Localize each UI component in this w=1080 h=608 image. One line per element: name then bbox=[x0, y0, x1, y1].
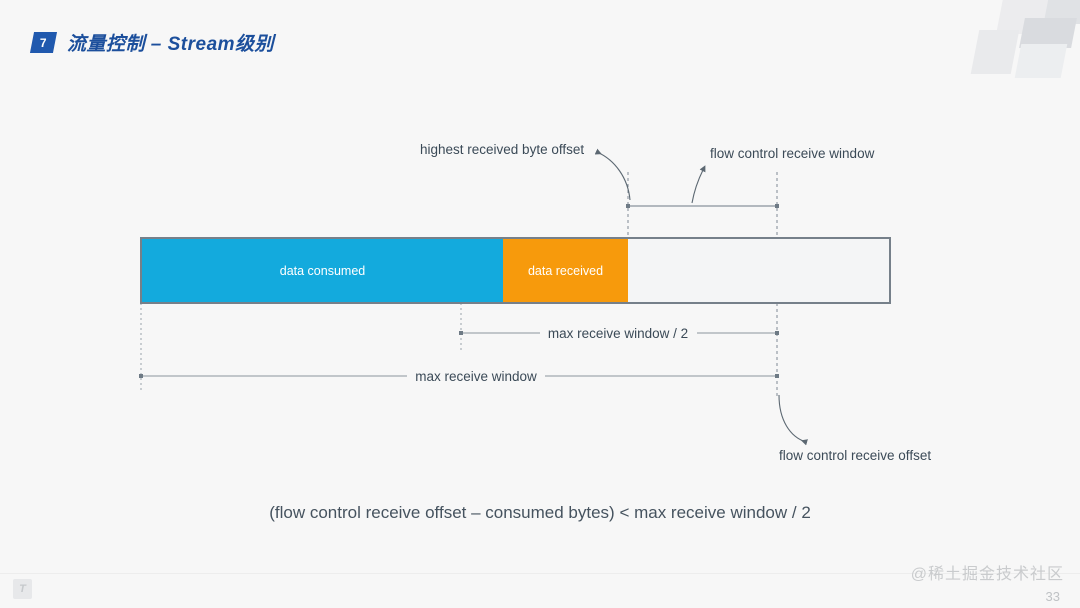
watermark: @稀土掘金技术社区 bbox=[911, 560, 1064, 584]
formula-text: (flow control receive offset – consumed … bbox=[269, 503, 811, 523]
flow-control-receive-window-pointer bbox=[692, 170, 703, 203]
label-max-receive-window: max receive window bbox=[415, 370, 537, 384]
page-number: 33 bbox=[1046, 589, 1060, 604]
label-flow-control-receive-offset: flow control receive offset bbox=[779, 449, 931, 463]
label-highest-received-byte-offset: highest received byte offset bbox=[420, 143, 584, 157]
slide-canvas: 7 流量控制 – Stream级别 bbox=[0, 0, 1080, 608]
bar-segment-data-consumed-label: data consumed bbox=[280, 264, 365, 278]
label-max-receive-window-half: max receive window / 2 bbox=[548, 327, 688, 341]
label-flow-control-receive-window: flow control receive window bbox=[710, 147, 874, 161]
bar-segment-data-consumed: data consumed bbox=[142, 239, 503, 302]
corner-logo-icon: T bbox=[13, 579, 32, 599]
flow-control-receive-offset-pointer bbox=[779, 395, 806, 442]
bar-segment-data-received-label: data received bbox=[528, 264, 603, 278]
bar-segment-data-received: data received bbox=[503, 239, 628, 302]
highest-received-byte-offset-pointer bbox=[597, 152, 630, 200]
